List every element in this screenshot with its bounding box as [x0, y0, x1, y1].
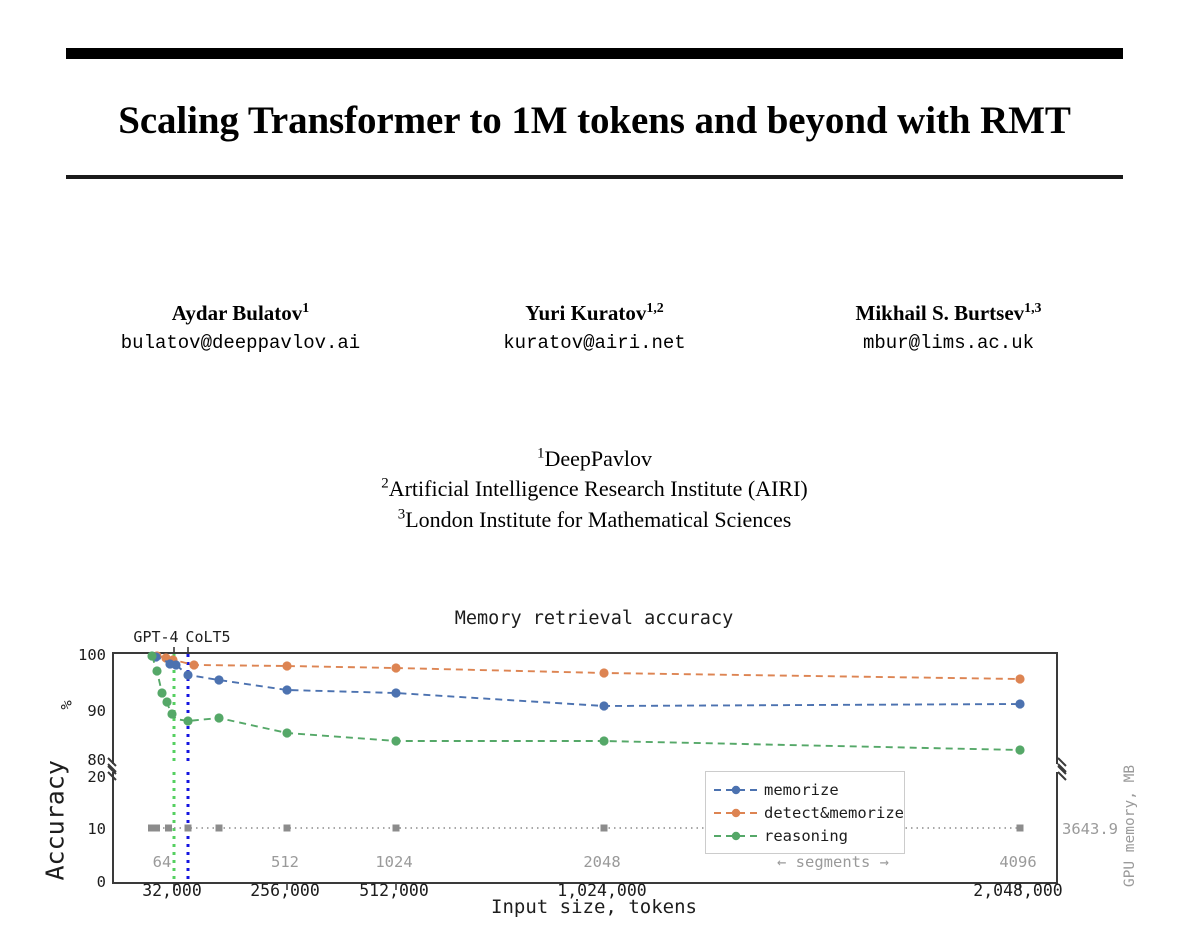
series-markers-memorize — [151, 652, 1024, 710]
legend-label-memorize: memorize — [764, 781, 839, 799]
segment-tick-512: 512 — [255, 853, 315, 871]
x-tick-512000: 512,000 — [334, 881, 454, 900]
header-top-rule — [66, 48, 1123, 59]
segment-tick-1024: 1024 — [360, 853, 428, 871]
segment-tick-64: 64 — [132, 853, 192, 871]
author-affiliation-marker: 1,2 — [646, 300, 663, 315]
author-name: Mikhail S. Burtsev1,3 — [814, 300, 1084, 326]
gpu-memory-tick-label: 3643.9 — [1062, 820, 1118, 838]
legend-label-reasoning: reasoning — [764, 827, 848, 845]
axis-break-right-bottom — [1058, 764, 1066, 780]
accuracy-panel — [112, 652, 1058, 764]
author-name-text: Yuri Kuratov — [525, 301, 646, 325]
y-tick-80: 80 — [60, 751, 106, 769]
affiliation-line: 1DeepPavlov — [66, 444, 1123, 474]
legend-key-detect-memorize — [712, 806, 760, 820]
author-affiliation-marker: 1,3 — [1024, 300, 1041, 315]
chart-legend: memorize detect&memorize reasoning — [705, 771, 905, 854]
series-markers-detect-memorize — [152, 651, 1024, 683]
affiliation-marker: 2 — [381, 476, 388, 492]
author-affiliation-marker: 1 — [302, 300, 309, 315]
y-tick-0: 0 — [60, 873, 106, 891]
legend-item-memorize: memorize — [712, 778, 896, 801]
x-tick-32000: 32,000 — [112, 881, 232, 900]
page-title: Scaling Transformer to 1M tokens and bey… — [86, 97, 1103, 145]
affiliation-text: DeepPavlov — [544, 446, 652, 471]
author-block: Aydar Bulatov1 bulatov@deeppavlov.ai — [106, 300, 376, 354]
author-name: Yuri Kuratov1,2 — [460, 300, 730, 326]
affiliations: 1DeepPavlov 2Artificial Intelligence Res… — [66, 444, 1123, 535]
legend-key-reasoning — [712, 829, 760, 843]
segment-tick-4096: 4096 — [984, 853, 1052, 871]
legend-item-reasoning: reasoning — [712, 824, 896, 847]
author-name-text: Aydar Bulatov — [172, 301, 303, 325]
author-block: Yuri Kuratov1,2 kuratov@airi.net — [460, 300, 730, 354]
x-tick-2048000: 2,048,000 — [943, 881, 1093, 900]
x-tick-256000: 256,000 — [225, 881, 345, 900]
author-name-text: Mikhail S. Burtsev — [856, 301, 1025, 325]
author-email: kuratov@airi.net — [460, 332, 730, 354]
authors-row: Aydar Bulatov1 bulatov@deeppavlov.ai Yur… — [66, 300, 1123, 354]
affiliation-line: 3London Institute for Mathematical Scien… — [66, 505, 1123, 535]
header-bottom-rule — [66, 175, 1123, 179]
y-tick-100: 100 — [60, 646, 106, 664]
legend-key-memorize — [712, 783, 760, 797]
y-tick-20: 20 — [60, 768, 106, 786]
y-tick-90: 90 — [60, 702, 106, 720]
series-line-reasoning — [152, 656, 1020, 750]
accuracy-plot-svg — [114, 654, 1060, 766]
affiliation-line: 2Artificial Intelligence Research Instit… — [66, 474, 1123, 504]
segment-tick-2048: 2048 — [568, 853, 636, 871]
axis-break-left-bottom — [108, 764, 116, 780]
affiliation-text: Artificial Intelligence Research Institu… — [389, 476, 808, 501]
figure-memory-retrieval-accuracy: Memory retrieval accuracy % Accuracy GPU… — [0, 596, 1188, 942]
affiliation-text: London Institute for Mathematical Scienc… — [405, 507, 791, 532]
paper-header: Scaling Transformer to 1M tokens and bey… — [66, 48, 1123, 179]
author-block: Mikhail S. Burtsev1,3 mbur@lims.ac.uk — [814, 300, 1084, 354]
x-tick-1024000: 1,024,000 — [527, 881, 677, 900]
y-tick-10: 10 — [60, 820, 106, 838]
author-email: bulatov@deeppavlov.ai — [106, 332, 376, 354]
annotation-label-colt5: CoLT5 — [170, 628, 246, 646]
author-name: Aydar Bulatov1 — [106, 300, 376, 326]
chart-title: Memory retrieval accuracy — [0, 608, 1188, 629]
legend-label-detect-memorize: detect&memorize — [764, 804, 904, 822]
y-axis-label-gpu-memory: GPU memory, MB — [1122, 761, 1138, 891]
author-email: mbur@lims.ac.uk — [814, 332, 1084, 354]
series-markers-reasoning — [147, 651, 1024, 754]
legend-item-detect-memorize: detect&memorize — [712, 801, 896, 824]
segments-axis-caption: ← segments → — [748, 853, 918, 871]
